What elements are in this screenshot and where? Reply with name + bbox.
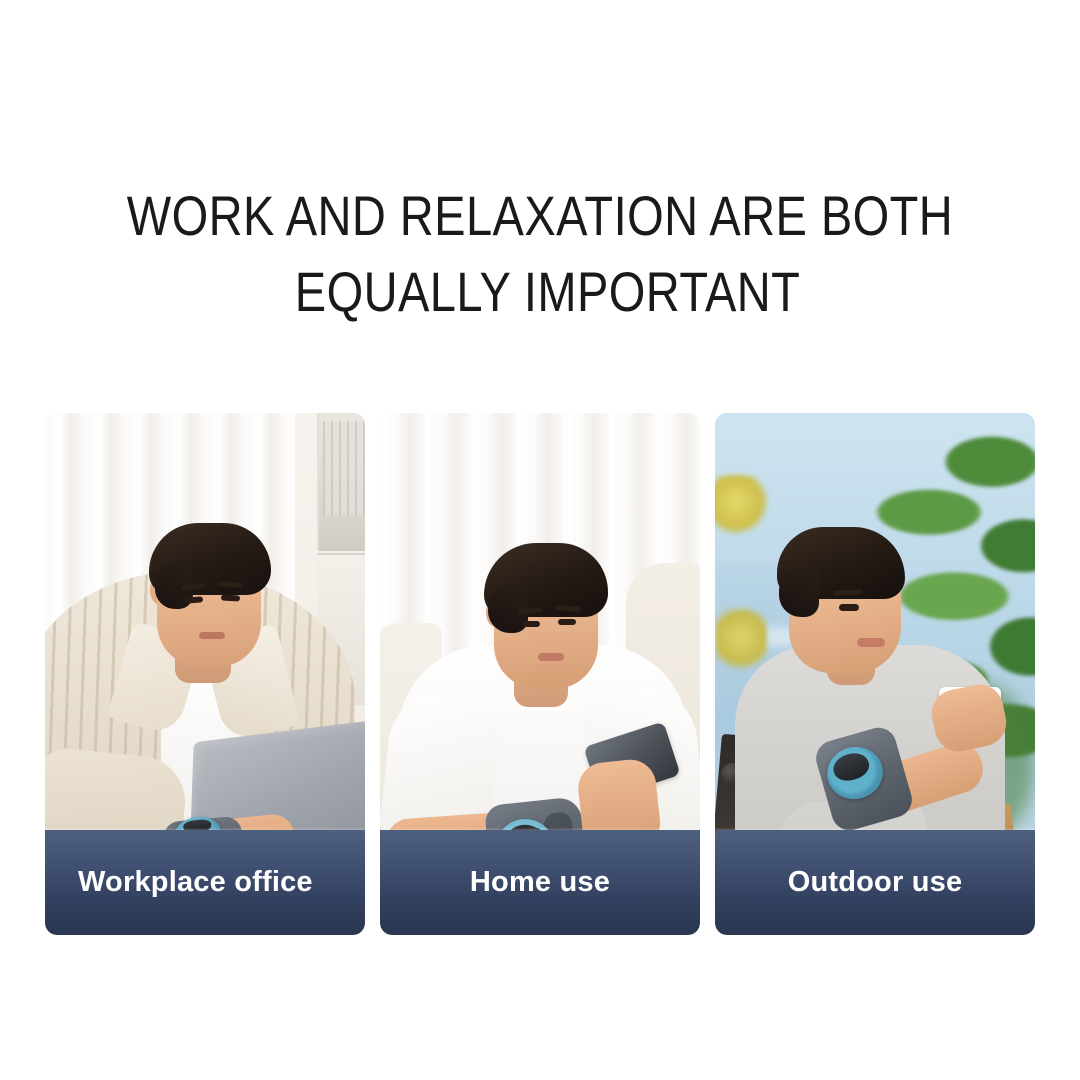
headline-line-2: EQUALLY IMPORTANT	[86, 254, 993, 330]
mouth	[857, 638, 885, 647]
yellow-blossom-mid	[715, 608, 767, 674]
card-caption-label: Outdoor use	[715, 866, 1035, 899]
eye-right	[558, 619, 576, 625]
use-case-card-outdoor-use[interactable]: Outdoor use	[715, 413, 1035, 935]
headline-line-1: WORK AND RELAXATION ARE BOTH	[86, 178, 993, 254]
use-case-card-row: Workplace office	[45, 413, 1035, 935]
card-caption-label: Workplace office	[45, 866, 365, 899]
hair-fringe	[779, 567, 819, 617]
mouth	[199, 632, 225, 639]
window	[317, 413, 365, 551]
use-case-card-workplace-office[interactable]: Workplace office	[45, 413, 365, 935]
eye-right	[221, 595, 240, 602]
page-title: WORK AND RELAXATION ARE BOTH EQUALLY IMP…	[86, 178, 993, 330]
eye-left	[522, 621, 540, 627]
card-caption-label: Home use	[380, 866, 700, 899]
yellow-blossom-top	[715, 475, 769, 535]
eye	[839, 604, 859, 611]
card-caption-bar-outdoor-use: Outdoor use	[715, 830, 1035, 935]
card-caption-bar-workplace-office: Workplace office	[45, 830, 365, 935]
use-case-card-home-use[interactable]: Home use	[380, 413, 700, 935]
card-caption-bar-home-use: Home use	[380, 830, 700, 935]
mouth	[538, 653, 564, 661]
